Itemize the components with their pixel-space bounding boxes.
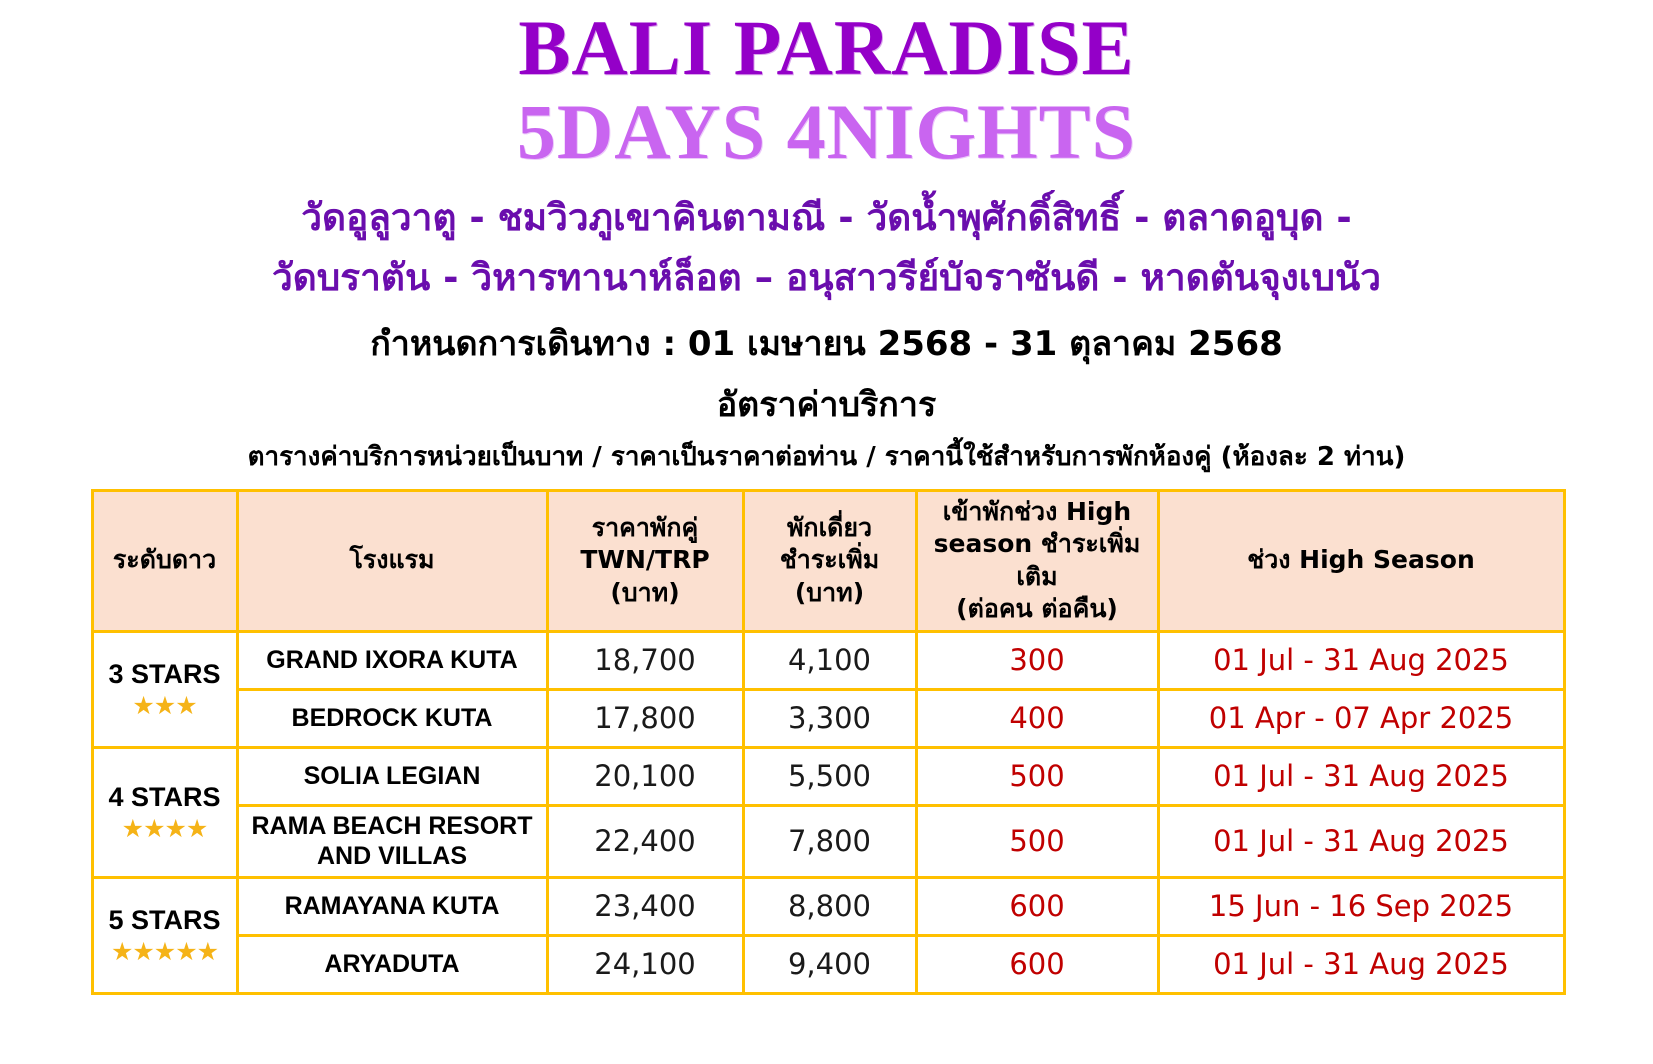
high-season-period-cell: 01 Jul - 31 Aug 2025 bbox=[1158, 935, 1564, 993]
hotel-name-cell: BEDROCK KUTA bbox=[237, 689, 547, 747]
header-twn-trp: ราคาพักคู่ TWN/TRP (บาท) bbox=[547, 490, 743, 631]
itinerary-line-2: วัดบราตัน - วิหารทานาห์ล็อต – อนุสาวรีย์… bbox=[0, 248, 1653, 308]
high-season-period-cell: 15 Jun - 16 Sep 2025 bbox=[1158, 877, 1564, 935]
table-row: 5 STARS ★★★★★ RAMAYANA KUTA 23,400 8,800… bbox=[92, 877, 1564, 935]
headline-secondary: 5DAYS 4NIGHTS bbox=[0, 90, 1653, 174]
twn-trp-price-cell: 24,100 bbox=[547, 935, 743, 993]
high-season-period-cell: 01 Apr - 07 Apr 2025 bbox=[1158, 689, 1564, 747]
hotel-name-cell: SOLIA LEGIAN bbox=[237, 747, 547, 805]
star-level-label: 5 STARS bbox=[108, 905, 220, 935]
table-row: ARYADUTA 24,100 9,400 600 01 Jul - 31 Au… bbox=[92, 935, 1564, 993]
star-level-cell: 4 STARS ★★★★ bbox=[92, 747, 237, 877]
rates-heading: อัตราค่าบริการ bbox=[0, 383, 1653, 427]
twn-trp-price-cell: 18,700 bbox=[547, 631, 743, 689]
table-header-row: ระดับดาว โรงแรม ราคาพักคู่ TWN/TRP (บาท)… bbox=[92, 490, 1564, 631]
header-single-line3: (บาท) bbox=[795, 578, 864, 607]
hotel-name-cell: GRAND IXORA KUTA bbox=[237, 631, 547, 689]
twn-trp-price-cell: 20,100 bbox=[547, 747, 743, 805]
itinerary-line-1: วัดอูลูวาตู - ชมวิวภูเขาคินตามณี - วัดน้… bbox=[0, 188, 1653, 248]
headline-block: BALI PARADISE 5DAYS 4NIGHTS bbox=[0, 0, 1653, 174]
table-row: 4 STARS ★★★★ SOLIA LEGIAN 20,100 5,500 5… bbox=[92, 747, 1564, 805]
hotel-name-line2: AND VILLAS bbox=[317, 842, 467, 870]
hotel-name-cell: RAMA BEACH RESORT AND VILLAS bbox=[237, 805, 547, 877]
single-supplement-cell: 4,100 bbox=[743, 631, 916, 689]
single-supplement-cell: 3,300 bbox=[743, 689, 916, 747]
star-level-cell: 3 STARS ★★★ bbox=[92, 631, 237, 747]
twn-trp-price-cell: 22,400 bbox=[547, 805, 743, 877]
header-twn-trp-line1: ราคาพักคู่ bbox=[592, 513, 699, 542]
table-row: BEDROCK KUTA 17,800 3,300 400 01 Apr - 0… bbox=[92, 689, 1564, 747]
high-season-period-cell: 01 Jul - 31 Aug 2025 bbox=[1158, 805, 1564, 877]
star-rating-icon: ★★★★★ bbox=[100, 940, 230, 965]
header-single-supplement: พักเดี่ยว ชำระเพิ่ม (บาท) bbox=[743, 490, 916, 631]
table-row: 3 STARS ★★★ GRAND IXORA KUTA 18,700 4,10… bbox=[92, 631, 1564, 689]
star-level-label: 3 STARS bbox=[108, 659, 220, 689]
single-supplement-cell: 9,400 bbox=[743, 935, 916, 993]
rates-note: ตารางค่าบริการหน่วยเป็นบาท / ราคาเป็นราค… bbox=[0, 441, 1653, 475]
hotel-name-line1: RAMA BEACH RESORT bbox=[251, 812, 532, 840]
table-body: 3 STARS ★★★ GRAND IXORA KUTA 18,700 4,10… bbox=[92, 631, 1564, 993]
twn-trp-price-cell: 23,400 bbox=[547, 877, 743, 935]
single-supplement-cell: 8,800 bbox=[743, 877, 916, 935]
twn-trp-price-cell: 17,800 bbox=[547, 689, 743, 747]
rates-table: ระดับดาว โรงแรม ราคาพักคู่ TWN/TRP (บาท)… bbox=[91, 489, 1566, 995]
high-season-period-cell: 01 Jul - 31 Aug 2025 bbox=[1158, 747, 1564, 805]
star-level-label: 4 STARS bbox=[108, 782, 220, 812]
star-rating-icon: ★★★★ bbox=[100, 817, 230, 842]
header-hs-sup-line2: season ชำระเพิ่มเติม bbox=[934, 529, 1141, 591]
header-single-line1: พักเดี่ยว bbox=[787, 513, 872, 542]
high-season-supplement-cell: 500 bbox=[916, 747, 1158, 805]
table-header: ระดับดาว โรงแรม ราคาพักคู่ TWN/TRP (บาท)… bbox=[92, 490, 1564, 631]
hotel-name-cell: RAMAYANA KUTA bbox=[237, 877, 547, 935]
single-supplement-cell: 5,500 bbox=[743, 747, 916, 805]
header-hs-sup-line3: (ต่อคน ต่อคืน) bbox=[956, 594, 1118, 623]
header-hotel: โรงแรม bbox=[237, 490, 547, 631]
high-season-supplement-cell: 500 bbox=[916, 805, 1158, 877]
high-season-supplement-cell: 600 bbox=[916, 877, 1158, 935]
table-row: RAMA BEACH RESORT AND VILLAS 22,400 7,80… bbox=[92, 805, 1564, 877]
header-twn-trp-line2: TWN/TRP bbox=[580, 545, 709, 574]
header-twn-trp-line3: (บาท) bbox=[610, 578, 679, 607]
itinerary-block: วัดอูลูวาตู - ชมวิวภูเขาคินตามณี - วัดน้… bbox=[0, 188, 1653, 308]
brochure-poster: BALI PARADISE 5DAYS 4NIGHTS วัดอูลูวาตู … bbox=[0, 0, 1653, 1064]
high-season-period-cell: 01 Jul - 31 Aug 2025 bbox=[1158, 631, 1564, 689]
rates-table-container: ระดับดาว โรงแรม ราคาพักคู่ TWN/TRP (บาท)… bbox=[91, 489, 1563, 995]
headline-primary: BALI PARADISE bbox=[0, 6, 1653, 90]
header-high-season-period: ช่วง High Season bbox=[1158, 490, 1564, 631]
header-hs-sup-line1: เข้าพักช่วง High bbox=[943, 497, 1131, 526]
travel-period: กำหนดการเดินทาง : 01 เมษายน 2568 - 31 ตุ… bbox=[0, 322, 1653, 366]
header-high-season-supplement: เข้าพักช่วง High season ชำระเพิ่มเติม (ต… bbox=[916, 490, 1158, 631]
header-single-line2: ชำระเพิ่ม bbox=[780, 545, 879, 574]
high-season-supplement-cell: 400 bbox=[916, 689, 1158, 747]
high-season-supplement-cell: 300 bbox=[916, 631, 1158, 689]
single-supplement-cell: 7,800 bbox=[743, 805, 916, 877]
high-season-supplement-cell: 600 bbox=[916, 935, 1158, 993]
hotel-name-cell: ARYADUTA bbox=[237, 935, 547, 993]
star-level-cell: 5 STARS ★★★★★ bbox=[92, 877, 237, 993]
star-rating-icon: ★★★ bbox=[100, 694, 230, 719]
header-star-level: ระดับดาว bbox=[92, 490, 237, 631]
